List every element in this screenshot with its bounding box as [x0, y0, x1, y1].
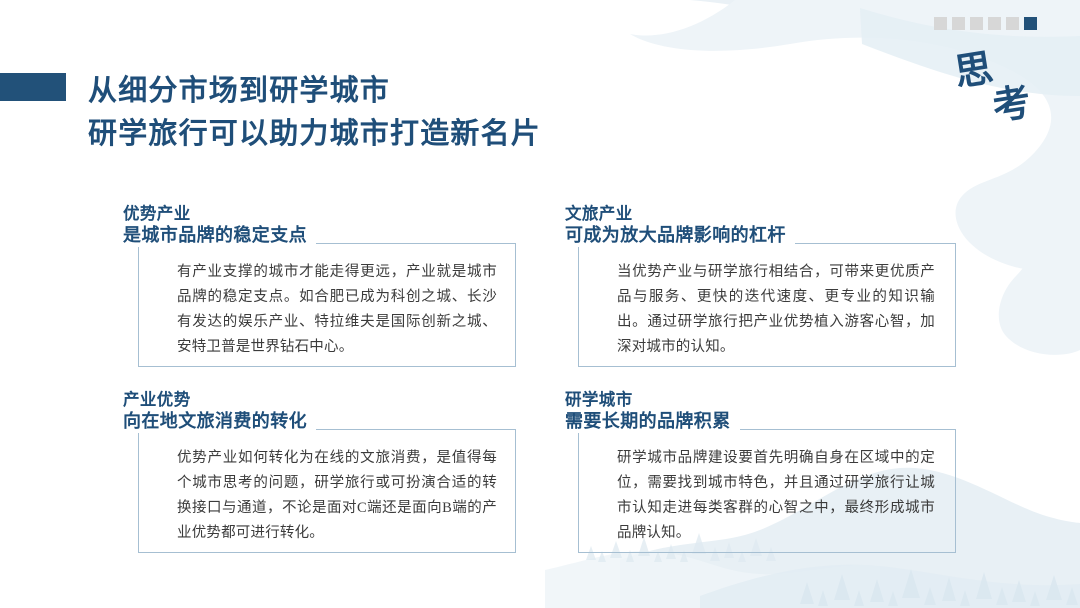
- block-4-body: 研学城市品牌建设要首先明确自身在区域中的定位，需要找到城市特色，并且通过研学旅行…: [617, 446, 935, 546]
- content-block-2: 文旅产业 可成为放大品牌影响的杠杆 当优势产业与研学旅行相结合，可带来更优质产品…: [565, 203, 795, 247]
- block-2-heading-line-1: 文旅产业: [565, 203, 786, 224]
- block-4-heading-line-1: 研学城市: [565, 389, 731, 410]
- title-accent-bar: [0, 73, 66, 101]
- pine-band-lower: [800, 569, 1078, 606]
- pip-3: [970, 17, 983, 30]
- block-1-body: 有产业支撑的城市才能走得更远，产业就是城市品牌的稳定支点。如合肥已成为科创之城、…: [177, 260, 497, 360]
- block-1-heading-line-1: 优势产业: [123, 203, 307, 224]
- pip-6-active: [1024, 17, 1037, 30]
- content-block-4: 研学城市 需要长期的品牌积累 研学城市品牌建设要首先明确自身在区域中的定位，需要…: [565, 389, 740, 433]
- pip-4: [988, 17, 1001, 30]
- block-1-heading-line-2: 是城市品牌的稳定支点: [123, 224, 307, 247]
- page-title-line-2: 研学旅行可以助力城市打造新名片: [88, 113, 728, 156]
- block-1-heading: 优势产业 是城市品牌的稳定支点: [123, 203, 316, 247]
- pip-1: [934, 17, 947, 30]
- block-3-heading-line-2: 向在地文旅消费的转化: [123, 410, 307, 433]
- block-3-heading: 产业优势 向在地文旅消费的转化: [123, 389, 316, 433]
- page-title-line-1: 从细分市场到研学城市: [88, 70, 728, 113]
- block-2-heading: 文旅产业 可成为放大品牌影响的杠杆: [565, 203, 795, 247]
- pip-5: [1006, 17, 1019, 30]
- block-2-body: 当优势产业与研学旅行相结合，可带来更优质产品与服务、更快的迭代速度、更专业的知识…: [617, 260, 935, 360]
- content-block-3: 产业优势 向在地文旅消费的转化 优势产业如何转化为在线的文旅消费，是值得每个城市…: [123, 389, 316, 433]
- block-3-body: 优势产业如何转化为在线的文旅消费，是值得每个城市思考的问题，研学旅行或可扮演合适…: [177, 446, 497, 546]
- block-2-heading-line-2: 可成为放大品牌影响的杠杆: [565, 224, 786, 247]
- content-block-1: 优势产业 是城市品牌的稳定支点 有产业支撑的城市才能走得更远，产业就是城市品牌的…: [123, 203, 316, 247]
- block-4-heading-line-2: 需要长期的品牌积累: [565, 410, 731, 433]
- progress-pips: [934, 17, 1037, 30]
- block-4-heading: 研学城市 需要长期的品牌积累: [565, 389, 740, 433]
- block-3-heading-line-1: 产业优势: [123, 389, 307, 410]
- stamp-char-2: 考: [990, 81, 1034, 128]
- pip-2: [952, 17, 965, 30]
- page-title: 从细分市场到研学城市 研学旅行可以助力城市打造新名片: [88, 70, 728, 156]
- calligraphy-stamp: 思 考: [955, 44, 1055, 130]
- slide-canvas: 从细分市场到研学城市 研学旅行可以助力城市打造新名片 思 考 优势产业 是城市品…: [0, 0, 1080, 608]
